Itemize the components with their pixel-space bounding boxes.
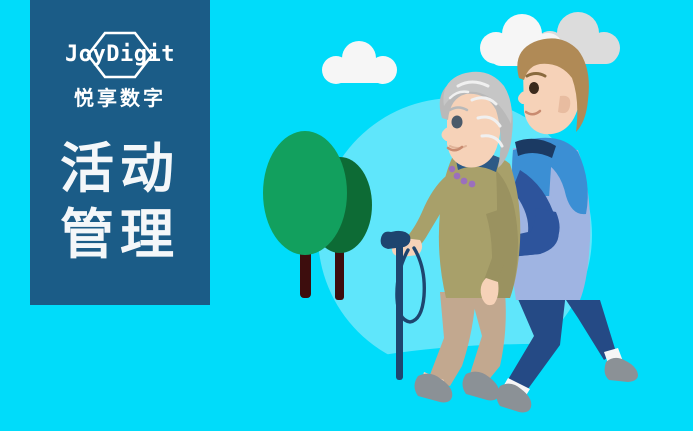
page-title-line2: 管理 [30, 202, 210, 268]
logo-mark: JoyDigit [30, 30, 210, 82]
title-panel: JoyDigit 悦享数字 活动 管理 [30, 0, 210, 305]
logo-wordmark: JoyDigit [30, 42, 210, 68]
logo-chinese-name: 悦享数字 [30, 86, 210, 112]
elder-eye [452, 116, 463, 129]
man-eye [529, 82, 539, 94]
brand-logo: JoyDigit 悦享数字 [30, 30, 210, 112]
poster-canvas: JoyDigit 悦享数字 活动 管理 [0, 0, 693, 431]
page-title-line1: 活动 [60, 139, 180, 199]
page-title: 活动 管理 [30, 136, 210, 268]
